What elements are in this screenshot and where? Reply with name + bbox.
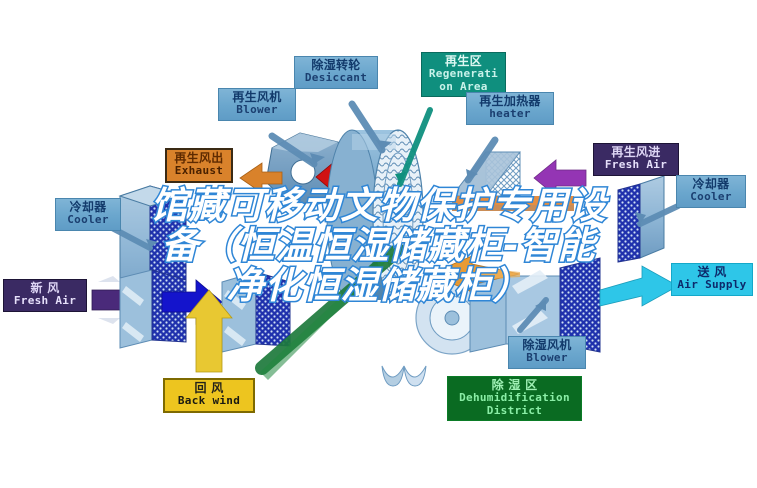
label-cooler-right-en: Cooler xyxy=(682,191,740,203)
label-dehumidification-area-en-2: District xyxy=(453,405,576,417)
label-back-wind-cn: 回 风 xyxy=(170,382,248,395)
label-dehumidification-blower-cn: 除湿风机 xyxy=(514,339,580,352)
label-fresh-air-cn: 新 风 xyxy=(9,282,81,295)
process-coil-shape xyxy=(222,272,290,352)
label-desiccant-en: Desiccant xyxy=(300,72,372,84)
label-dehumidification-blower-en: Blower xyxy=(514,352,580,364)
svg-text:xt: xt xyxy=(388,329,405,344)
label-regeneration-blower: 再生风机 Blower xyxy=(218,88,296,121)
desiccant-rotor-shape xyxy=(327,130,426,386)
label-fresh-air-en: Fresh Air xyxy=(9,295,81,307)
label-air-supply-cn: 送 风 xyxy=(677,266,747,279)
label-regeneration-heater-en: heater xyxy=(472,108,548,120)
diagram-canvas: xt 除湿转轮 Desiccant 再生风机 Blower 再生区 Regene… xyxy=(0,0,757,488)
label-exhaust-en: Exhaust xyxy=(172,165,226,177)
supply-air-arrow xyxy=(600,266,678,306)
label-cooler-left-en: Cooler xyxy=(61,214,115,226)
label-regeneration-area: 再生区 Regenerati on Area xyxy=(421,52,506,97)
airflow-schematic: xt xyxy=(0,0,757,488)
label-fresh-air: 新 风 Fresh Air xyxy=(3,279,87,312)
label-back-wind: 回 风 Back wind xyxy=(163,378,255,413)
label-regeneration-area-cn: 再生区 xyxy=(427,55,500,68)
label-back-wind-en: Back wind xyxy=(170,395,248,407)
label-dehumidification-area-en-1: Dehumidification xyxy=(453,392,576,404)
label-regeneration-blower-cn: 再生风机 xyxy=(224,91,290,104)
label-regeneration-area-en-1: Regenerati xyxy=(427,68,500,80)
label-exhaust: 再生风出 Exhaust xyxy=(165,148,233,183)
label-desiccant: 除湿转轮 Desiccant xyxy=(294,56,378,89)
label-regeneration-heater: 再生加热器 heater xyxy=(466,92,554,125)
label-dehumidification-blower: 除湿风机 Blower xyxy=(508,336,586,369)
label-cooler-left-cn: 冷却器 xyxy=(61,201,115,214)
label-cooler-right: 冷却器 Cooler xyxy=(676,175,746,208)
label-dehumidification-area-cn: 除 湿 区 xyxy=(453,379,576,392)
label-regeneration-heater-cn: 再生加热器 xyxy=(472,95,548,108)
label-regeneration-fresh-air-en: Fresh Air xyxy=(599,159,673,171)
label-desiccant-cn: 除湿转轮 xyxy=(300,59,372,72)
label-regeneration-fresh-air-cn: 再生风进 xyxy=(599,146,673,159)
label-regeneration-blower-en: Blower xyxy=(224,104,290,116)
label-exhaust-cn: 再生风出 xyxy=(172,152,226,165)
label-cooler-left: 冷却器 Cooler xyxy=(55,198,121,231)
label-air-supply-en: Air Supply xyxy=(677,279,747,291)
label-regeneration-fresh-air: 再生风进 Fresh Air xyxy=(593,143,679,176)
label-dehumidification-area: 除 湿 区 Dehumidification District xyxy=(447,376,582,421)
regeneration-intake-arrow xyxy=(534,160,586,196)
label-cooler-right-cn: 冷却器 xyxy=(682,178,740,191)
label-air-supply: 送 风 Air Supply xyxy=(671,263,753,296)
